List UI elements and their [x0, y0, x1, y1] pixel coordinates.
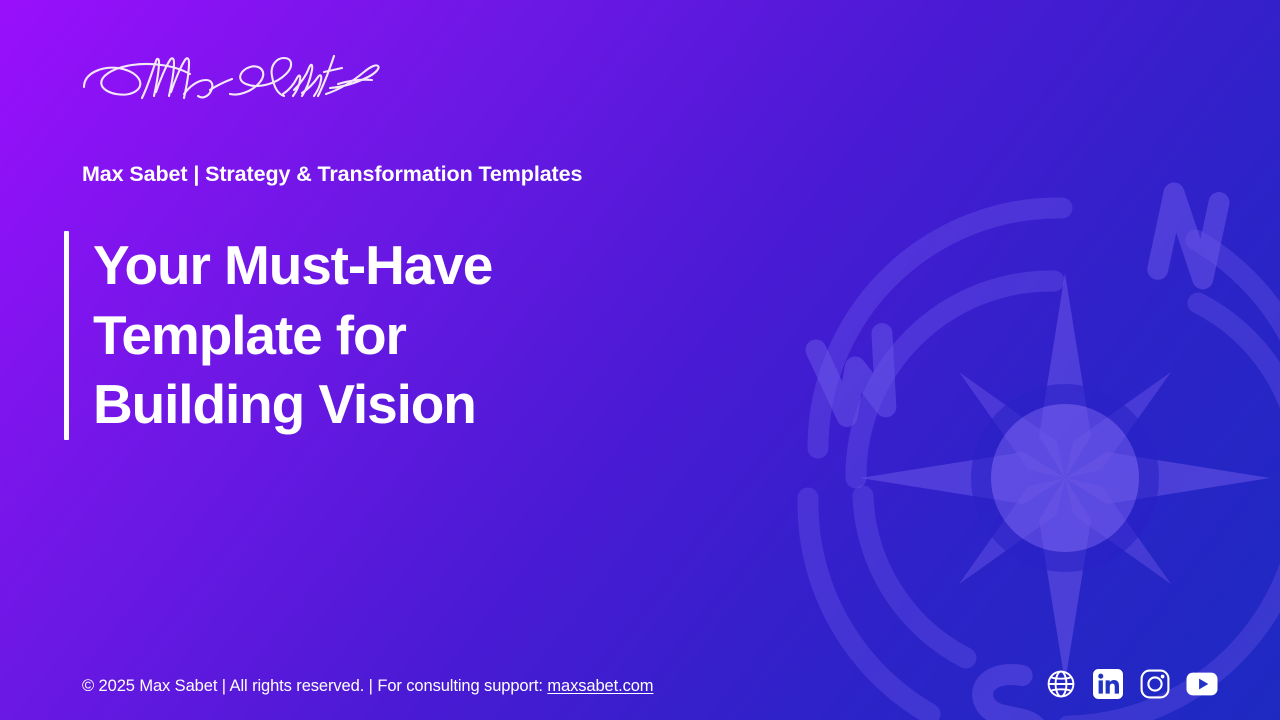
compass-label-w — [816, 334, 899, 420]
page-title: Your Must-Have Template for Building Vis… — [69, 231, 492, 440]
social-links — [1045, 668, 1218, 700]
website-link[interactable]: maxsabet.com — [547, 677, 653, 695]
slide-canvas: Max Sabet | Strategy & Transformation Te… — [0, 0, 1280, 720]
headline-block: Your Must-Have Template for Building Vis… — [64, 231, 492, 440]
compass-rose-illustration — [778, 118, 1280, 720]
youtube-icon[interactable] — [1186, 668, 1218, 700]
compass-label-n — [1158, 193, 1219, 279]
headline-line-3: Building Vision — [93, 370, 492, 440]
instagram-icon[interactable] — [1139, 668, 1171, 700]
headline-line-2: Template for — [93, 301, 492, 371]
signature-logo — [80, 46, 380, 108]
website-icon[interactable] — [1045, 668, 1077, 700]
compass-label-s — [980, 671, 1042, 720]
copyright-text: © 2025 Max Sabet | All rights reserved. … — [82, 677, 543, 695]
footer-copyright: © 2025 Max Sabet | All rights reserved. … — [82, 677, 653, 696]
headline-line-1: Your Must-Have — [93, 231, 492, 301]
linkedin-icon[interactable] — [1092, 668, 1124, 700]
page-subtitle: Max Sabet | Strategy & Transformation Te… — [82, 162, 582, 187]
